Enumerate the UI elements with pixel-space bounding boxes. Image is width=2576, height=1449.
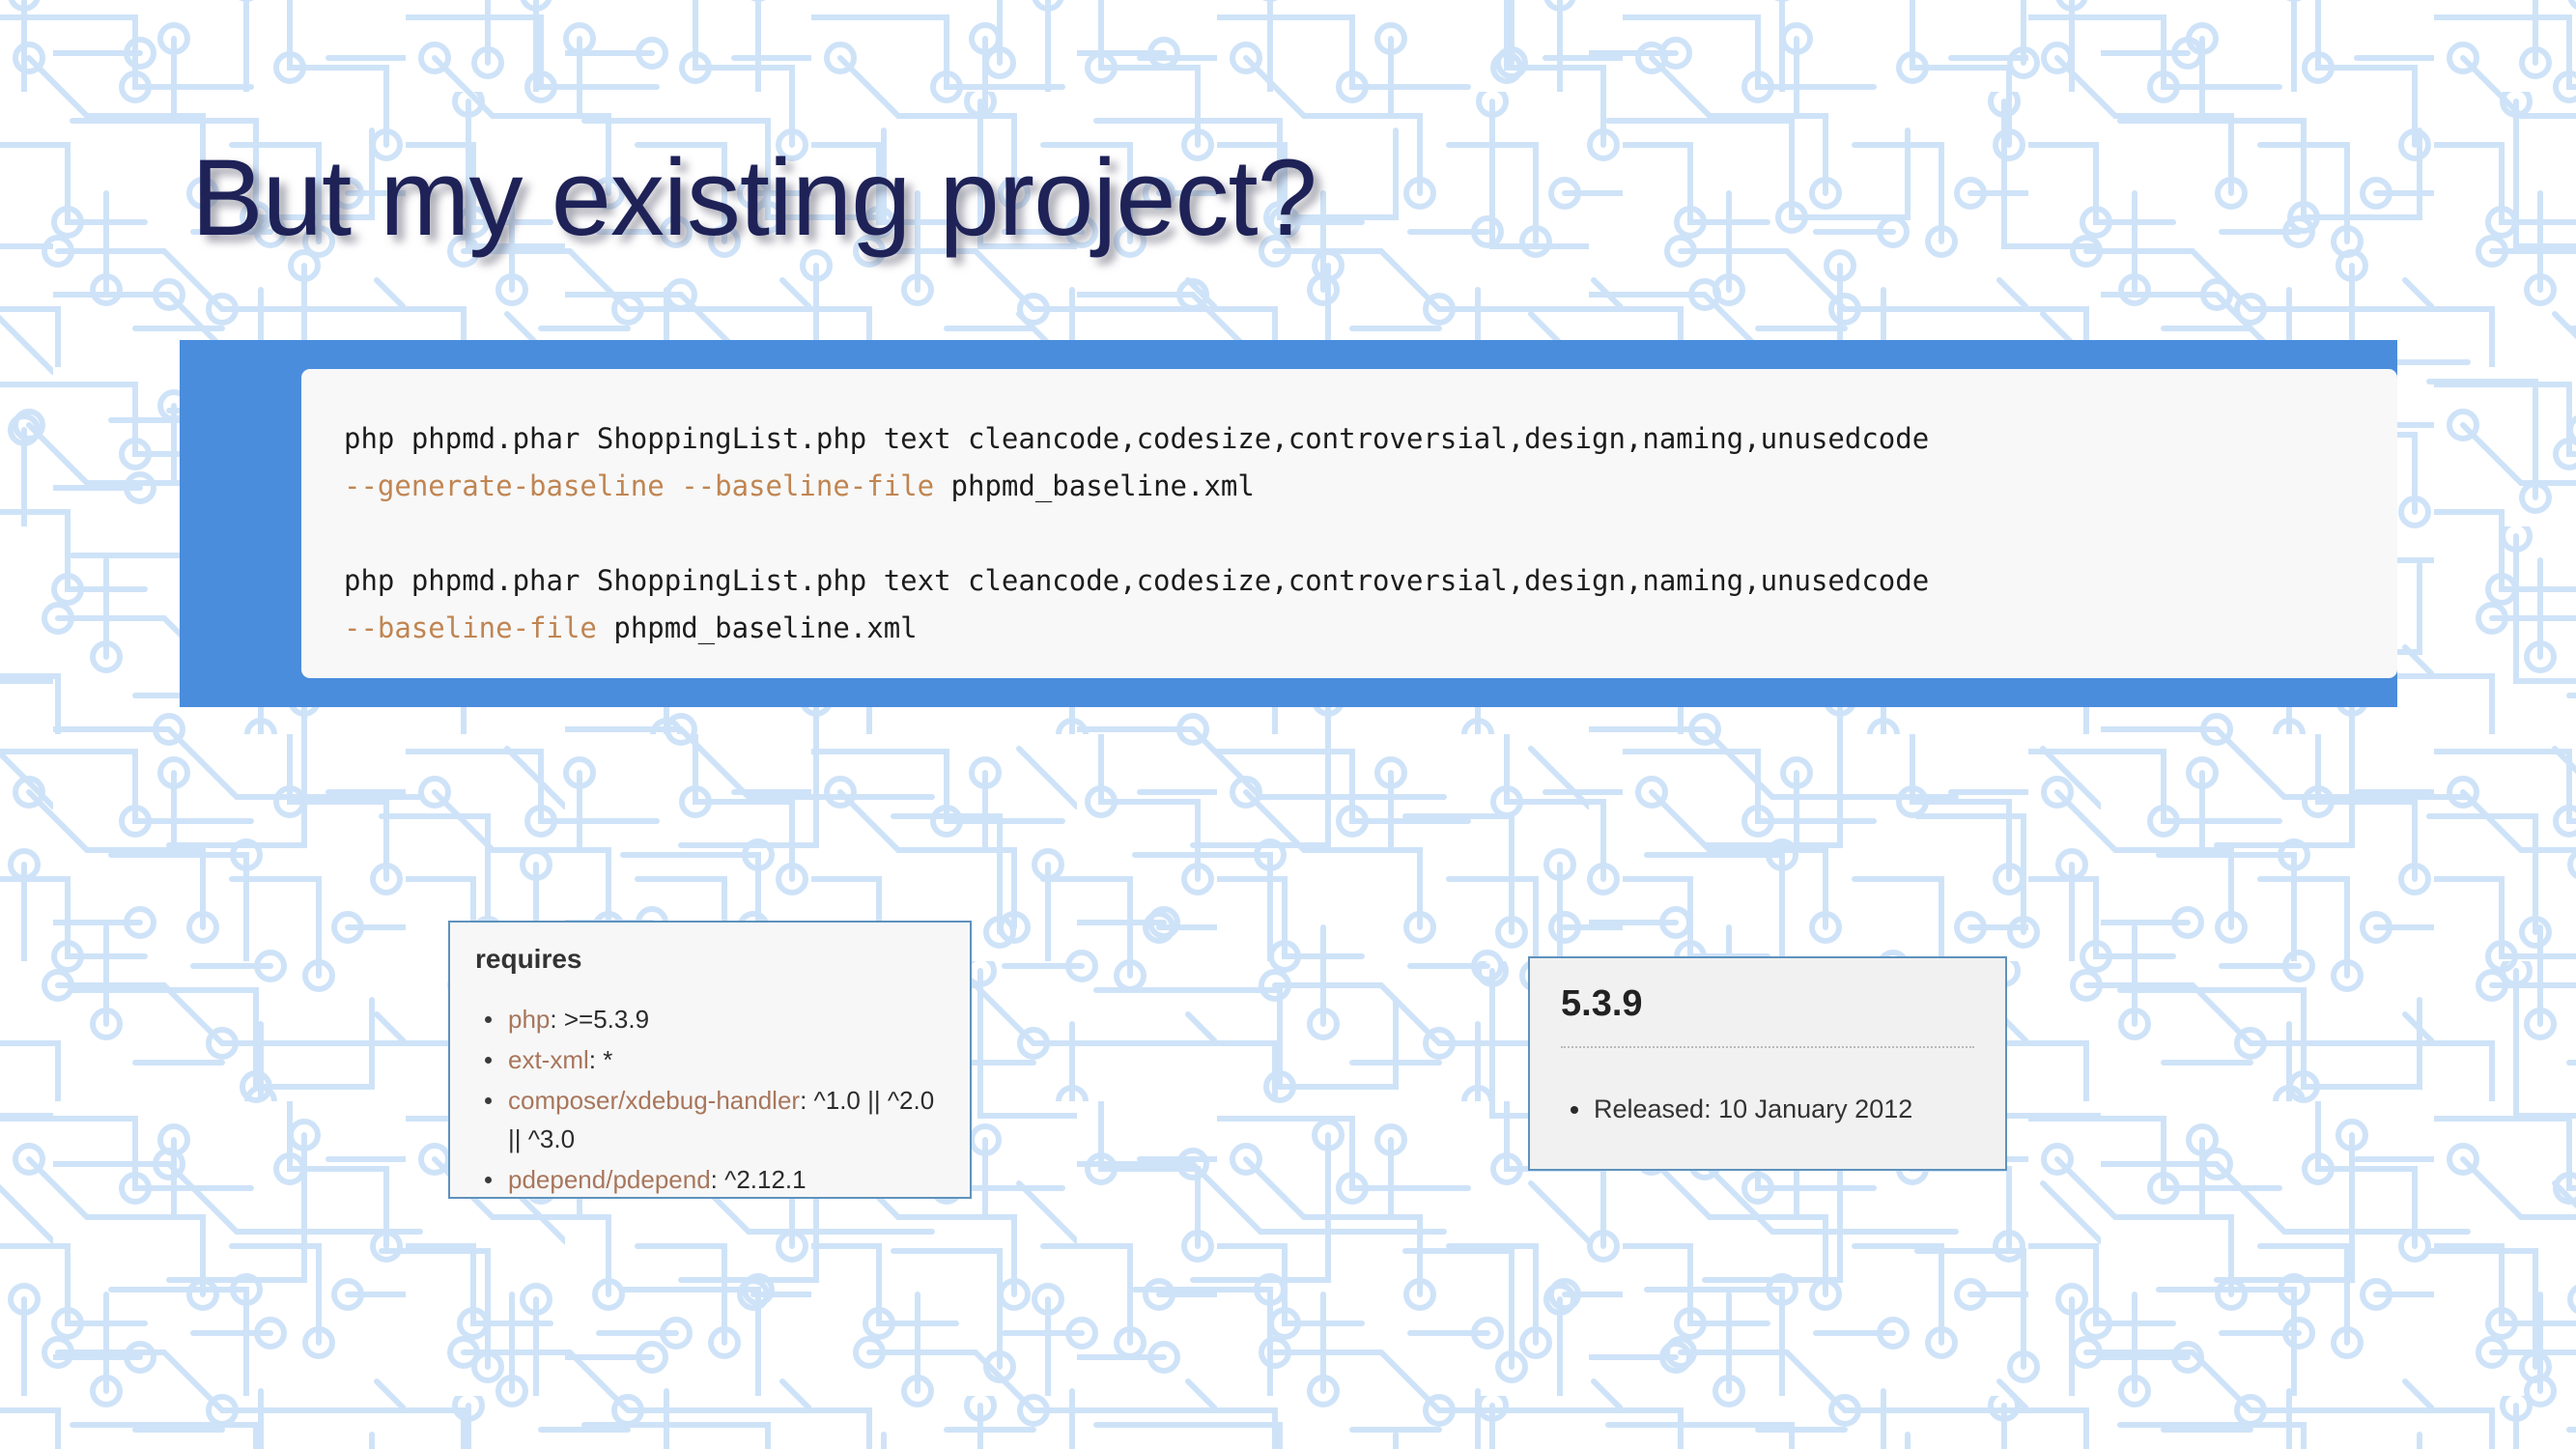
requires-separator: : — [550, 1005, 563, 1034]
command-2-line-2-value: phpmd_baseline.xml — [597, 611, 918, 644]
requires-version: ^2.12.1 — [724, 1165, 807, 1194]
requires-separator: : — [711, 1165, 724, 1194]
version-divider — [1561, 1046, 1974, 1048]
requires-version: >=5.3.9 — [564, 1005, 649, 1034]
requires-separator: : — [589, 1045, 603, 1074]
requires-package-name[interactable]: php — [508, 1005, 550, 1034]
command-1-line-1: php phpmd.phar ShoppingList.php text cle… — [344, 422, 1929, 455]
version-panel: 5.3.9 Released: 10 January 2012 — [1528, 956, 2007, 1171]
list-item: composer/xdebug-handler: ^1.0 || ^2.0 ||… — [508, 1081, 945, 1158]
code-panel-frame: php phpmd.phar ShoppingList.php text cle… — [180, 340, 2397, 707]
command-2-line-1: php phpmd.phar ShoppingList.php text cle… — [344, 564, 1929, 597]
list-item: pdepend/pdepend: ^2.12.1 — [508, 1160, 945, 1199]
command-1: php phpmd.phar ShoppingList.php text cle… — [344, 415, 2397, 510]
requires-list: php: >=5.3.9 ext-xml: * composer/xdebug-… — [475, 1000, 945, 1199]
command-2-flags: --baseline-file — [344, 611, 597, 644]
version-detail-list: Released: 10 January 2012 — [1561, 1091, 1974, 1127]
command-1-line-2-value: phpmd_baseline.xml — [934, 469, 1255, 502]
requires-heading: requires — [475, 944, 945, 975]
list-item: php: >=5.3.9 — [508, 1000, 945, 1038]
requires-package-name[interactable]: ext-xml — [508, 1045, 589, 1074]
requires-package-name[interactable]: pdepend/pdepend — [508, 1165, 711, 1194]
version-number: 5.3.9 — [1561, 983, 1974, 1025]
requires-panel: requires php: >=5.3.9 ext-xml: * compose… — [448, 921, 972, 1199]
requires-separator: : — [800, 1086, 813, 1115]
code-block-container: php phpmd.phar ShoppingList.php text cle… — [301, 369, 2397, 678]
page-title: But my existing project? — [191, 135, 1316, 260]
slide-canvas: But my existing project? php phpmd.phar … — [0, 0, 2576, 1449]
list-item: Released: 10 January 2012 — [1594, 1091, 1974, 1127]
list-item: ext-xml: * — [508, 1040, 945, 1079]
requires-version: * — [603, 1045, 612, 1074]
command-2: php phpmd.phar ShoppingList.php text cle… — [344, 557, 2397, 652]
requires-package-name[interactable]: composer/xdebug-handler — [508, 1086, 800, 1115]
command-1-flags: --generate-baseline --baseline-file — [344, 469, 934, 502]
